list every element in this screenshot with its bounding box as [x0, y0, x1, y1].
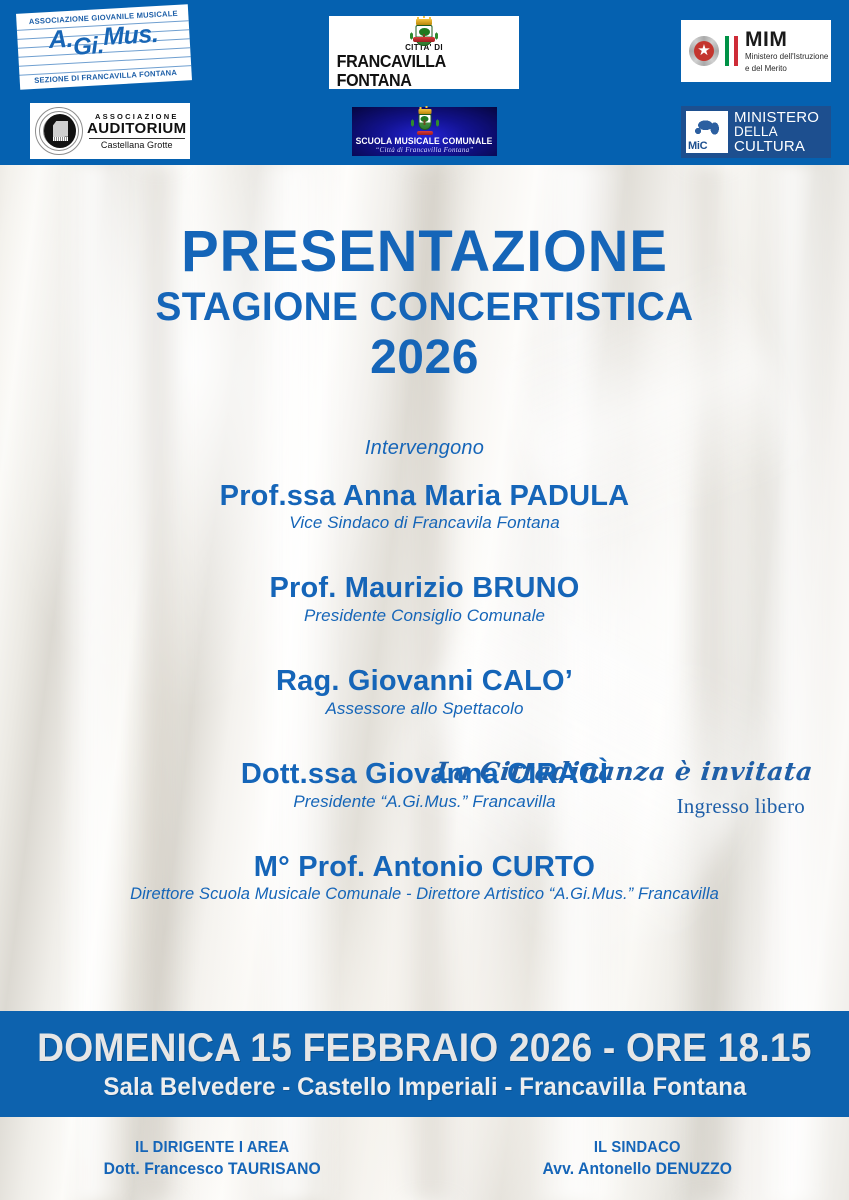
speaker-role: Presidente Consiglio Comunale [0, 606, 849, 626]
speaker-name: Rag. Giovanni CALO’ [0, 665, 849, 697]
speaker-role: Direttore Scuola Musicale Comunale - Dir… [0, 885, 849, 905]
laurel-left-icon [409, 115, 416, 131]
divider [89, 138, 185, 139]
mic-emblem-icon: MiC [686, 111, 728, 153]
event-date-time: DOMENICA 15 FEBBRAIO 2026 - ORE 18.15 [37, 1027, 812, 1069]
agimus-card: ASSOCIAZIONE GIOVANILE MUSICALE A.Gi.Mus… [16, 4, 192, 89]
mic-line1: MINISTERO [734, 110, 819, 125]
speaker-name: Prof.ssa Anna Maria PADULA [0, 480, 849, 512]
mim-line1: Ministero dell'Istruzione [745, 52, 828, 62]
speaker-entry: M° Prof. Antonio CURTO Direttore Scuola … [0, 851, 849, 904]
speaker-entry: Prof. Maurizio BRUNO Presidente Consigli… [0, 572, 849, 626]
sponsor-logo-header: ASSOCIAZIONE GIOVANILE MUSICALE A.Gi.Mus… [0, 0, 849, 165]
ribbon-icon [417, 131, 433, 135]
piano-circle-icon [35, 107, 83, 155]
page-subtitle: STAGIONE CONCERTISTICA [13, 285, 837, 330]
mim-line2: e del Merito [745, 64, 828, 74]
republic-emblem-icon [687, 34, 721, 68]
ribbon-icon [413, 37, 435, 42]
mic-line3: CULTURA [734, 139, 819, 154]
signature-sindaco: IL SINDACO Avv. Antonello DENUZZO [425, 1139, 849, 1179]
signature-name: Avv. Antonello DENUZZO [435, 1160, 838, 1179]
signature-name: Dott. Francesco TAURISANO [11, 1160, 414, 1179]
speaker-role: Presidente “A.Gi.Mus.” Francavilla [0, 792, 849, 812]
logo-mic: MiC MINISTERO DELLA CULTURA [681, 106, 831, 158]
shield-icon [416, 25, 433, 46]
speaker-entry: Prof.ssa Anna Maria PADULA Vice Sindaco … [0, 480, 849, 534]
tree-icon [421, 116, 429, 125]
auditorium-line3: Castellana Grotte [101, 140, 173, 150]
agimus-mus: Mus. [102, 20, 158, 51]
mic-line2: DELLA [734, 125, 819, 139]
mic-acronym: MiC [688, 140, 707, 152]
speaker-name: Dott.ssa Giovanna CIRACÌ [0, 758, 849, 790]
speaker-entry: Dott.ssa Giovanna CIRACÌ Presidente “A.G… [0, 758, 849, 812]
auditorium-line2: AUDITORIUM [87, 121, 187, 138]
mim-acronym: MIM [745, 29, 828, 50]
intervengono-label: Intervengono [0, 437, 849, 460]
laurel-right-icon [434, 115, 441, 131]
signature-footer: IL DIRIGENTE I AREA Dott. Francesco TAUR… [0, 1117, 849, 1200]
page-year: 2026 [0, 332, 849, 385]
logo-auditorium: ASSOCIAZIONE AUDITORIUM Castellana Grott… [30, 103, 190, 159]
logo-citta-francavilla: CITTA' DI FRANCAVILLA FONTANA [329, 16, 519, 89]
italian-flag-icon [725, 36, 738, 66]
mim-text-block: MIM Ministero dell'Istruzione e del Meri… [745, 29, 828, 74]
signature-dirigente: IL DIRIGENTE I AREA Dott. Francesco TAUR… [0, 1139, 425, 1179]
poster-root: ASSOCIAZIONE GIOVANILE MUSICALE A.Gi.Mus… [0, 0, 849, 1200]
event-venue: Sala Belvedere - Castello Imperiali - Fr… [103, 1074, 746, 1102]
laurel-right-icon [432, 26, 441, 46]
citta-name: FRANCAVILLA FONTANA [337, 52, 512, 89]
logo-mim: MIM Ministero dell'Istruzione e del Meri… [681, 20, 831, 82]
logo-scuola-musicale: SCUOLA MUSICALE COMUNALE “Città di Franc… [352, 107, 497, 156]
date-banner: DOMENICA 15 FEBBRAIO 2026 - ORE 18.15 Sa… [0, 1011, 849, 1117]
signature-title: IL DIRIGENTE I AREA [11, 1139, 414, 1157]
speaker-name: M° Prof. Antonio CURTO [0, 851, 849, 883]
scuola-line1: SCUOLA MUSICALE COMUNALE [356, 136, 493, 146]
speaker-role: Vice Sindaco di Francavila Fontana [0, 513, 849, 533]
signature-title: IL SINDACO [435, 1139, 838, 1157]
page-title: PRESENTAZIONE [13, 223, 837, 281]
logo-agimus: ASSOCIAZIONE GIOVANILE MUSICALE A.Gi.Mus… [16, 4, 192, 89]
mic-text-block: MINISTERO DELLA CULTURA [734, 110, 819, 154]
speaker-name: Prof. Maurizio BRUNO [0, 572, 849, 604]
speaker-entry: Rag. Giovanni CALO’ Assessore allo Spett… [0, 665, 849, 719]
agimus-a: A. [48, 25, 74, 54]
shield-icon [418, 114, 431, 130]
auditorium-text-block: ASSOCIAZIONE AUDITORIUM Castellana Grott… [87, 112, 187, 151]
coat-of-arms-icon [409, 19, 439, 42]
poster-body: PRESENTAZIONE STAGIONE CONCERTISTICA 202… [0, 165, 849, 1011]
scuola-line2: “Città di Francavilla Fontana” [375, 146, 473, 154]
coat-of-arms-icon [411, 109, 439, 135]
agimus-gi: Gi. [72, 32, 104, 61]
speaker-role: Assessore allo Spettacolo [0, 699, 849, 719]
